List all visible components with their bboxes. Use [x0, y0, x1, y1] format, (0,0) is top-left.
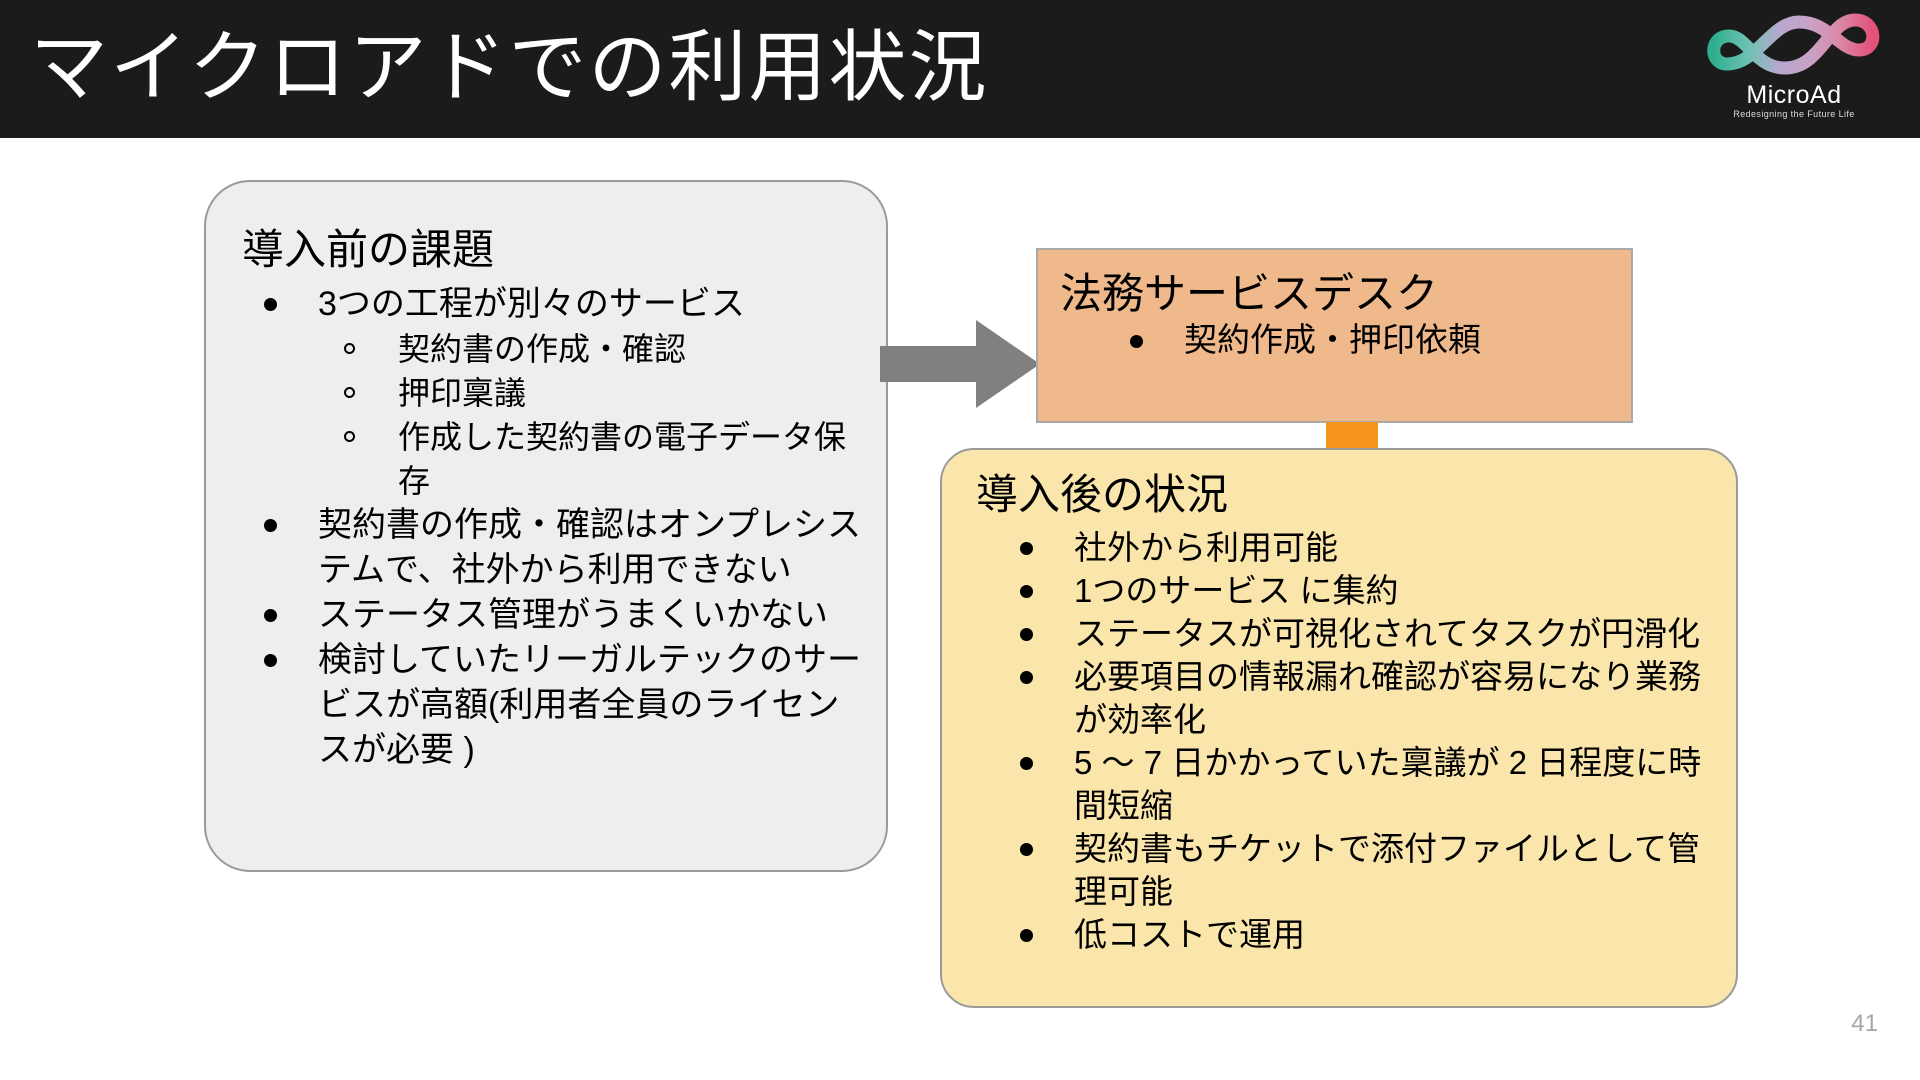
bullet-hollow-icon — [344, 387, 355, 398]
bullet-filled-icon — [1020, 542, 1033, 555]
list-item: 1つのサービス に集約 — [982, 569, 1722, 612]
after-state-box: 導入後の状況 社外から利用可能 1つのサービス に集約 ステータスが可視化されて… — [940, 448, 1738, 1008]
list-item-label: 社外から利用可能 — [1074, 529, 1338, 566]
list-item-label: 契約書もチケットで添付ファイルとして管理可能 — [1074, 830, 1700, 910]
bullet-filled-icon — [1020, 585, 1033, 598]
list-item: 低コストで運用 — [982, 913, 1722, 956]
after-box-heading: 導入後の状況 — [976, 466, 1228, 524]
list-item: 契約作成・押印依頼 — [1098, 318, 1618, 362]
list-item-label: 3つの工程が別々のサービス — [318, 285, 745, 323]
bullet-filled-icon — [1020, 671, 1033, 684]
bullet-filled-icon — [264, 654, 277, 667]
microad-infinity-loop-icon — [1699, 6, 1889, 84]
page-title: マイクロアドでの利用状況 — [30, 12, 988, 122]
desk-box-bullet-list: 契約作成・押印依頼 — [1098, 318, 1618, 362]
list-item: 社外から利用可能 — [982, 526, 1722, 569]
bullet-filled-icon — [1020, 929, 1033, 942]
list-item-label: 5 ～ 7 日かかっていた稟議が 2 日程度に時間短縮 — [1074, 744, 1701, 824]
bullet-filled-icon — [264, 519, 277, 532]
list-item-label: 必要項目の情報漏れ確認が容易になり業務が効率化 — [1074, 658, 1701, 738]
list-item: 5 ～ 7 日かかっていた稟議が 2 日程度に時間短縮 — [982, 741, 1722, 827]
list-item-label: 検討していたリーガルテックのサービスが高額(利用者全員のライセンスが必要 ) — [318, 641, 861, 769]
list-item: 検討していたリーガルテックのサービスが高額(利用者全員のライセンスが必要 ) — [242, 638, 862, 773]
list-item-label: 押印稟議 — [398, 375, 526, 411]
legal-service-desk-box: 法務サービスデスク 契約作成・押印依頼 — [1036, 248, 1633, 423]
list-item-label: 作成した契約書の電子データ保存 — [398, 419, 846, 499]
list-item: 契約書の作成・確認 — [318, 327, 862, 371]
right-arrow-icon — [880, 316, 1040, 412]
list-item: 必要項目の情報漏れ確認が容易になり業務が効率化 — [982, 655, 1722, 741]
before-state-box: 導入前の課題 3つの工程が別々のサービス 契約書の作成・確認 押印稟議 — [204, 180, 888, 872]
list-item: 3つの工程が別々のサービス 契約書の作成・確認 押印稟議 作成した契約書の電子デ… — [242, 282, 862, 503]
before-box-bullet-list: 3つの工程が別々のサービス 契約書の作成・確認 押印稟議 作成した契約書の電子デ… — [242, 282, 862, 773]
logo-tagline: Redesigning the Future Life — [1694, 108, 1894, 120]
bullet-hollow-icon — [344, 431, 355, 442]
page-number: 41 — [1851, 1010, 1878, 1038]
list-item: 契約書もチケットで添付ファイルとして管理可能 — [982, 827, 1722, 913]
bullet-filled-icon — [264, 609, 277, 622]
bullet-filled-icon — [1020, 757, 1033, 770]
bullet-hollow-icon — [344, 343, 355, 354]
before-box-sublist: 契約書の作成・確認 押印稟議 作成した契約書の電子データ保存 — [318, 327, 862, 503]
logo-wordmark: MicroAd — [1694, 82, 1894, 108]
before-box-heading: 導入前の課題 — [242, 222, 494, 278]
list-item-label: 契約書の作成・確認 — [398, 331, 686, 367]
bullet-filled-icon — [264, 298, 277, 311]
after-box-bullet-list: 社外から利用可能 1つのサービス に集約 ステータスが可視化されてタスクが円滑化… — [982, 526, 1722, 956]
list-item-label: ステータスが可視化されてタスクが円滑化 — [1074, 615, 1700, 652]
list-item: 作成した契約書の電子データ保存 — [318, 415, 862, 503]
list-item-label: 契約作成・押印依頼 — [1184, 321, 1481, 358]
bullet-filled-icon — [1130, 335, 1143, 348]
microad-logo: MicroAd Redesigning the Future Life — [1694, 6, 1894, 132]
list-item-label: 低コストで運用 — [1074, 916, 1305, 953]
list-item: ステータスが可視化されてタスクが円滑化 — [982, 612, 1722, 655]
bullet-filled-icon — [1020, 843, 1033, 856]
list-item-label: 1つのサービス に集約 — [1074, 572, 1399, 609]
list-item-label: 契約書の作成・確認はオンプレシステムで、社外から利用できない — [318, 506, 861, 589]
list-item-label: ステータス管理がうまくいかない — [318, 596, 828, 634]
slide-canvas: 導入前の課題 3つの工程が別々のサービス 契約書の作成・確認 押印稟議 — [0, 138, 1920, 1080]
bullet-filled-icon — [1020, 628, 1033, 641]
list-item: 押印稟議 — [318, 371, 862, 415]
list-item: ステータス管理がうまくいかない — [242, 593, 862, 638]
desk-box-heading: 法務サービスデスク — [1060, 266, 1438, 322]
list-item: 契約書の作成・確認はオンプレシステムで、社外から利用できない — [242, 503, 862, 593]
